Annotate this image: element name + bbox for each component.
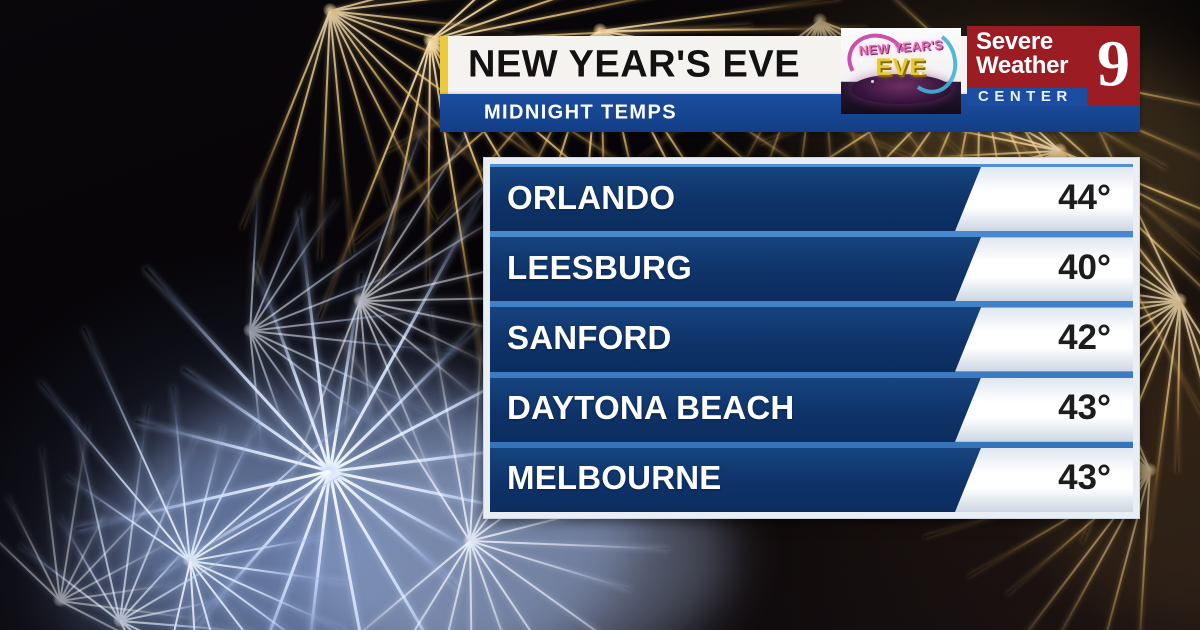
header: NEW YEAR'S EVE MIDNIGHT TEMPS NEW YEAR'S… — [440, 36, 1140, 132]
city-label: SANFORD — [507, 319, 672, 357]
city-label: DAYTONA BEACH — [507, 389, 794, 427]
confetti-dot — [933, 50, 936, 53]
temperature-value: 42° — [1058, 318, 1111, 358]
table-row: MELBOURNE43° — [490, 442, 1133, 512]
swc-line-weather: Weather — [976, 54, 1068, 78]
temps-panel: ORLANDO44°LEESBURG40°SANFORD42°DAYTONA B… — [483, 157, 1140, 519]
severe-weather-center-9-logo: 9 Severe Weather CENTER — [967, 26, 1140, 106]
temperature-value: 44° — [1058, 178, 1111, 218]
weather-graphic: NEW YEAR'S EVE MIDNIGHT TEMPS NEW YEAR'S… — [0, 0, 1200, 630]
table-row: LEESBURG40° — [490, 231, 1133, 301]
temperature-value: 40° — [1058, 248, 1111, 288]
city-label: ORLANDO — [507, 179, 675, 217]
table-row: ORLANDO44° — [490, 164, 1133, 231]
page-title: NEW YEAR'S EVE — [468, 44, 800, 87]
channel-number: 9 — [1097, 32, 1130, 98]
confetti-dot — [871, 80, 874, 83]
channel-9-badge: 9 — [1087, 26, 1140, 106]
city-label: MELBOURNE — [507, 459, 721, 497]
city-label: LEESBURG — [507, 249, 692, 287]
page-subtitle: MIDNIGHT TEMPS — [484, 102, 677, 125]
temperature-value: 43° — [1058, 458, 1111, 498]
table-row: DAYTONA BEACH43° — [490, 372, 1133, 442]
swc-line-center: CENTER — [978, 89, 1073, 104]
temps-row-list: ORLANDO44°LEESBURG40°SANFORD42°DAYTONA B… — [490, 164, 1133, 512]
temperature-value: 43° — [1058, 388, 1111, 428]
confetti-dot — [859, 58, 862, 61]
confetti-dot — [919, 72, 922, 75]
new-years-eve-logo-icon: NEW YEAR'S EVE — [841, 28, 961, 114]
swc-line-severe: Severe — [976, 30, 1053, 54]
table-row: SANFORD42° — [490, 301, 1133, 371]
title-accent-stripe — [440, 36, 448, 94]
nye-logo-line2: EVE — [849, 54, 953, 82]
